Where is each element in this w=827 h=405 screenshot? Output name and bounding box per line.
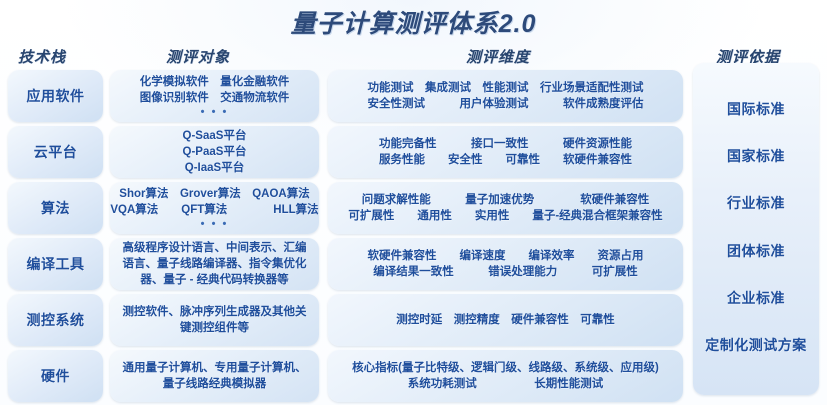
target-line: 测控软件、脉冲序列生成器及其他关键测控组件等 <box>120 304 309 336</box>
target-line: Q-PaaS平台 <box>183 144 247 160</box>
page-title: 量子计算测评体系2.0 <box>0 4 827 40</box>
target-line: 高级程序设计语言、中间表示、汇编语言、量子线路编译器、指令集优化器、量子 - 经… <box>118 240 311 288</box>
standard-item-5[interactable]: 定制化测试方案 <box>705 335 807 355</box>
target-line: VQA算法 QFT算法 HLL算法 <box>110 202 318 218</box>
column-header-target: 测评对象 <box>166 46 230 67</box>
standard-item-0[interactable]: 国际标准 <box>727 99 785 119</box>
standard-item-4[interactable]: 企业标准 <box>727 288 785 308</box>
target-line: Shor算法 Grover算法 QAOA算法 <box>119 186 309 202</box>
dimension-line: 编译结果一致性 错误处理能力 可扩展性 <box>373 264 638 280</box>
category-card-5[interactable]: 硬件 <box>8 350 103 402</box>
dimension-line: 功能测试 集成测试 性能测试 行业场景适配性测试 <box>368 80 644 96</box>
category-card-1[interactable]: 云平台 <box>8 126 103 178</box>
category-label: 编译工具 <box>27 254 85 274</box>
target-card-1[interactable]: Q-SaaS平台 Q-PaaS平台 Q-IaaS平台 <box>110 126 319 178</box>
standard-item-2[interactable]: 行业标准 <box>727 193 785 213</box>
category-label: 云平台 <box>34 142 78 162</box>
category-card-3[interactable]: 编译工具 <box>8 238 103 290</box>
category-card-2[interactable]: 算法 <box>8 182 103 234</box>
dimension-line: 软硬件兼容性 编译速度 编译效率 资源占用 <box>368 248 644 264</box>
category-label: 硬件 <box>41 366 70 386</box>
column-header-dimension: 测评维度 <box>466 46 530 67</box>
dimension-line: 测控时延 测控精度 硬件兼容性 可靠性 <box>396 312 615 328</box>
category-card-0[interactable]: 应用软件 <box>8 70 103 122</box>
dimension-line: 可扩展性 通用性 实用性 量子-经典混合框架兼容性 <box>348 208 662 224</box>
target-line: 化学模拟软件 量化金融软件 <box>140 74 290 90</box>
dimension-line: 问题求解性能 量子加速优势 软硬件兼容性 <box>362 192 650 208</box>
dimension-line: 安全性测试 用户体验测试 软件成熟度评估 <box>368 96 644 112</box>
category-label: 应用软件 <box>27 86 85 106</box>
dimension-card-0[interactable]: 功能测试 集成测试 性能测试 行业场景适配性测试 安全性测试 用户体验测试 软件… <box>328 70 683 122</box>
standard-item-1[interactable]: 国家标准 <box>727 146 785 166</box>
target-line: Q-SaaS平台 <box>183 128 247 144</box>
dimension-card-5[interactable]: 核心指标(量子比特级、逻辑门级、线路级、系统级、应用级) 系统功耗测试 长期性能… <box>328 350 683 402</box>
ellipsis-icon: • • • <box>201 219 229 230</box>
target-card-2[interactable]: Shor算法 Grover算法 QAOA算法 VQA算法 QFT算法 HLL算法… <box>110 182 319 234</box>
dimension-card-1[interactable]: 功能完备性 接口一致性 硬件资源性能 服务性能 安全性 可靠性 软硬件兼容性 <box>328 126 683 178</box>
target-line: Q-IaaS平台 <box>185 160 244 176</box>
ellipsis-icon: • • • <box>201 107 229 118</box>
column-header-stack: 技术栈 <box>18 46 66 67</box>
target-card-3[interactable]: 高级程序设计语言、中间表示、汇编语言、量子线路编译器、指令集优化器、量子 - 经… <box>110 238 319 290</box>
target-line: 通用量子计算机、专用量子计算机、量子线路经典模拟器 <box>120 360 309 392</box>
dimension-line: 核心指标(量子比特级、逻辑门级、线路级、系统级、应用级) <box>352 360 659 376</box>
target-card-0[interactable]: 化学模拟软件 量化金融软件 图像识别软件 交通物流软件 • • • <box>110 70 319 122</box>
target-card-5[interactable]: 通用量子计算机、专用量子计算机、量子线路经典模拟器 <box>110 350 319 402</box>
dimension-card-2[interactable]: 问题求解性能 量子加速优势 软硬件兼容性 可扩展性 通用性 实用性 量子-经典混… <box>328 182 683 234</box>
category-card-4[interactable]: 测控系统 <box>8 294 103 346</box>
dimension-card-3[interactable]: 软硬件兼容性 编译速度 编译效率 资源占用 编译结果一致性 错误处理能力 可扩展… <box>328 238 683 290</box>
category-label: 测控系统 <box>27 310 85 330</box>
target-line: 图像识别软件 交通物流软件 <box>140 90 290 106</box>
infographic-root: 量子计算测评体系2.0 技术栈 测评对象 测评维度 测评依据 应用软件 云平台 … <box>0 0 827 405</box>
category-label: 算法 <box>41 198 70 218</box>
target-card-4[interactable]: 测控软件、脉冲序列生成器及其他关键测控组件等 <box>110 294 319 346</box>
dimension-line: 功能完备性 接口一致性 硬件资源性能 <box>379 136 632 152</box>
dimension-line: 系统功耗测试 长期性能测试 <box>408 376 604 392</box>
dimension-card-4[interactable]: 测控时延 测控精度 硬件兼容性 可靠性 <box>328 294 683 346</box>
dimension-line: 服务性能 安全性 可靠性 软硬件兼容性 <box>379 152 632 168</box>
standard-item-3[interactable]: 团体标准 <box>727 241 785 261</box>
standards-list: 国际标准 国家标准 行业标准 团体标准 企业标准 定制化测试方案 <box>693 63 819 395</box>
